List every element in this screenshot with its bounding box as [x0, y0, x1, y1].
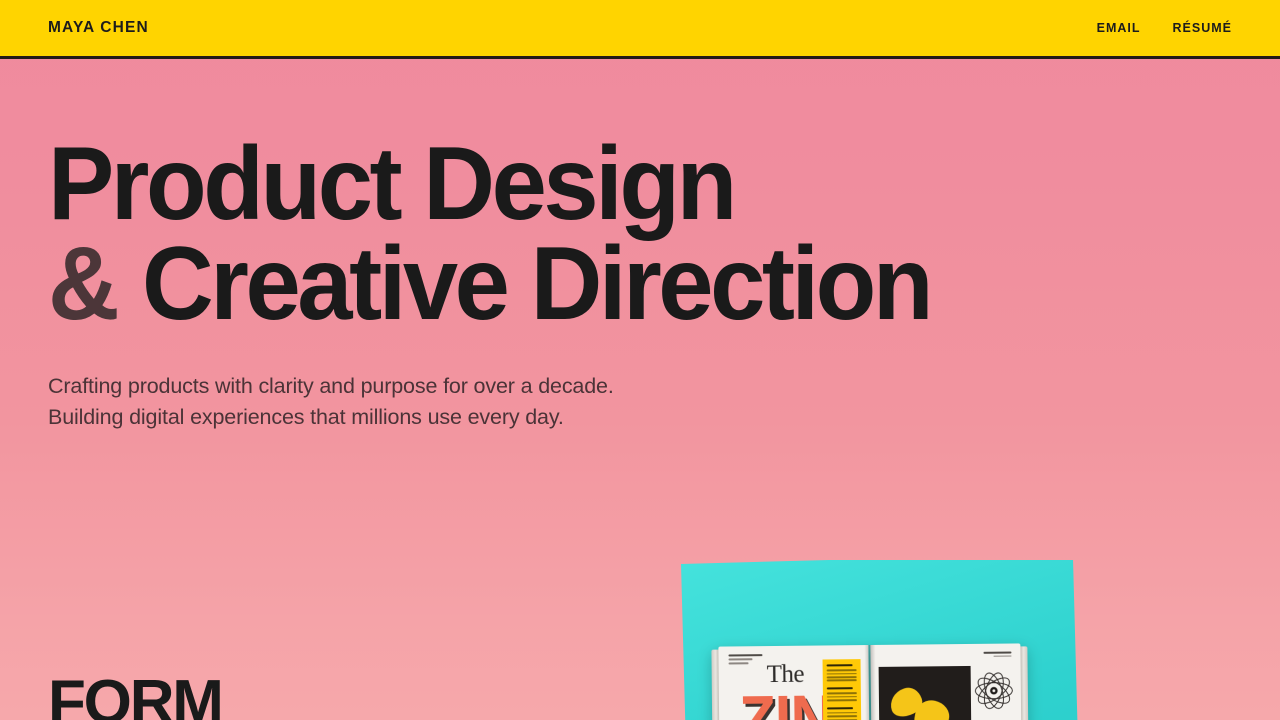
magazine-title-text: ZIN [739, 685, 833, 720]
top-navigation-bar: MAYA CHEN EMAIL RÉSUMÉ [0, 0, 1280, 59]
page-title: Product Design & Creative Direction [48, 135, 1225, 335]
hero-subtitle: Crafting products with clarity and purpo… [48, 371, 1280, 435]
nav-link-resume[interactable]: RÉSUMÉ [1173, 21, 1232, 35]
hero-section: Product Design & Creative Direction Craf… [0, 59, 1280, 434]
subtitle-line-2: Building digital experiences that millio… [48, 402, 1280, 434]
nav-links-group: EMAIL RÉSUMÉ [1097, 21, 1232, 35]
black-illustration-panel [879, 666, 972, 720]
magazine-photo: The ZIN [672, 560, 1084, 720]
brand-logo[interactable]: MAYA CHEN [48, 19, 149, 37]
headline-line-1: Product Design [48, 135, 1225, 235]
magazine-page-right [870, 643, 1021, 720]
headline-line-2: & Creative Direction [48, 235, 1225, 335]
section-heading-form: FORM [48, 672, 222, 720]
yellow-text-block [823, 659, 862, 720]
book-spine [864, 645, 876, 720]
atom-diagram-icon [973, 669, 1015, 711]
page-root: MAYA CHEN EMAIL RÉSUMÉ Product Design & … [0, 0, 1280, 720]
open-magazine-book: The ZIN [718, 643, 1022, 720]
page-header-lines-right [983, 652, 1011, 660]
magazine-page-left: The ZIN [718, 645, 869, 720]
headline-line-2-text: Creative Direction [118, 226, 930, 342]
nav-link-email[interactable]: EMAIL [1097, 21, 1141, 35]
subtitle-line-1: Crafting products with clarity and purpo… [48, 371, 1280, 403]
page-header-lines-left [728, 654, 762, 667]
headline-ampersand: & [48, 226, 118, 342]
